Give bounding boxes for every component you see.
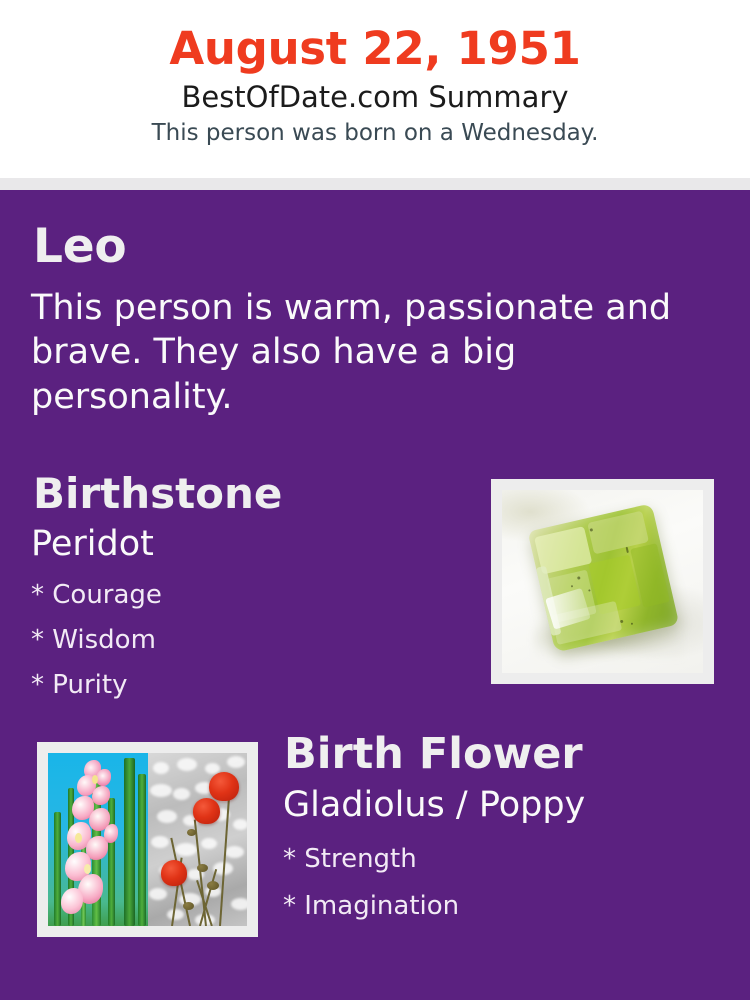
gem-inclusion [626,547,629,553]
born-day-text: This person was born on a Wednesday. [0,121,750,146]
list-item: * Purity [31,672,162,698]
birthstone-trait-list: * Courage * Wisdom * Purity [31,582,162,717]
gem-inclusion [631,622,633,624]
poppy-flower-icon [209,772,239,801]
header-divider [0,178,750,190]
gem-inclusion [620,619,624,623]
poppy-bud [183,902,194,910]
zodiac-sign-name: Leo [33,223,127,270]
birthstone-heading: Birthstone [33,473,282,515]
list-item: * Strength [283,846,459,872]
zodiac-description: This person is warm, passionate and brav… [31,286,691,419]
birthstone-image-frame [491,479,714,684]
poppy-photo-half [148,753,248,926]
list-item: * Wisdom [31,627,162,653]
birth-flower-heading: Birth Flower [284,733,583,776]
birth-flower-name: Gladiolus / Poppy [283,788,585,823]
gladiolus-photo-half [48,753,148,926]
poppy-flower-icon [193,798,220,824]
card-header: August 22, 1951 BestOfDate.com Summary T… [0,0,750,178]
summary-card: August 22, 1951 BestOfDate.com Summary T… [0,0,750,1000]
page-title-date: August 22, 1951 [0,25,750,72]
birth-flower-image-frame [37,742,258,937]
list-item: * Imagination [283,893,459,919]
gladiolus-and-poppy-photo [48,753,247,926]
poppy-flower-icon [161,860,187,886]
birthstone-name: Peridot [31,527,154,562]
poppy-bud [197,864,208,872]
site-summary-label: BestOfDate.com Summary [0,82,750,114]
peridot-gemstone-photo [502,490,703,673]
list-item: * Courage [31,582,162,608]
birth-flower-trait-list: * Strength * Imagination [283,846,459,940]
